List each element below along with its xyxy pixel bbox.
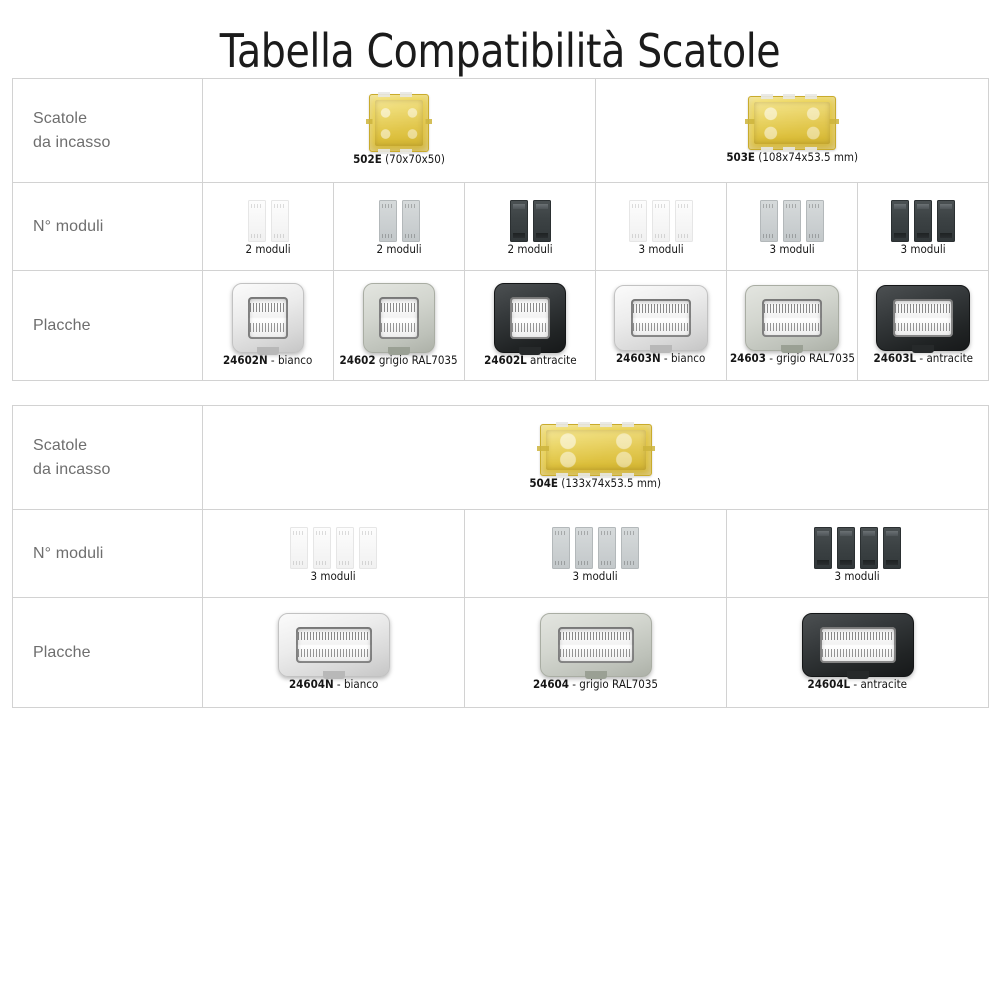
module-icon: [552, 527, 570, 569]
module-cell-2[interactable]: 2 moduli: [334, 183, 465, 271]
table-row-boxes: Scatole da incasso 504E (133x74x53.5 mm): [13, 406, 989, 510]
plate-icon-24604: [540, 613, 652, 677]
flush-box-504e-icon: [540, 424, 652, 476]
page-title: Tabella Compatibilità Scatole: [70, 0, 930, 78]
module-icon: [402, 200, 420, 242]
row-label-line-2: da incasso: [33, 458, 202, 481]
module-icons: [248, 200, 289, 242]
module-icons: [379, 200, 420, 242]
module-label: 2 moduli: [245, 242, 290, 256]
module-icons: [814, 527, 901, 569]
row-label-line-2: da incasso: [33, 131, 202, 154]
plate-code: 24604L: [808, 677, 851, 691]
module-icon: [783, 200, 801, 242]
module-icon: [675, 200, 693, 242]
plate-code: 24602N: [223, 353, 268, 367]
row-label-placche: Placche: [13, 271, 203, 381]
plate-finish: grigio RAL7035: [376, 353, 458, 367]
box-dims-502e: (70x70x50): [385, 152, 445, 166]
module-icons: [510, 200, 551, 242]
module-label: 3 moduli: [638, 242, 683, 256]
module-cell-1[interactable]: 3 moduli: [203, 510, 465, 598]
table-row-plates: Placche 24604N - bianco 24604 - grigio R…: [13, 598, 989, 708]
plate-finish: - grigio RAL7035: [569, 677, 658, 691]
module-cell-2[interactable]: 3 moduli: [465, 510, 727, 598]
module-label: 2 moduli: [376, 242, 421, 256]
module-icons: [629, 200, 693, 242]
plate-cell-24604[interactable]: 24604 - grigio RAL7035: [465, 598, 727, 708]
flush-box-503e-icon: [748, 96, 836, 150]
module-icons: [290, 527, 377, 569]
plate-code: 24604: [533, 677, 569, 691]
module-icon: [598, 527, 616, 569]
box-cell-502e[interactable]: 502E (70x70x50): [203, 79, 596, 183]
box-code-503e: 503E: [726, 150, 755, 164]
module-icons: [891, 200, 955, 242]
plate-icon-24603: [745, 285, 839, 351]
plate-icon-24603l: [876, 285, 970, 351]
flush-box-502e-icon: [369, 94, 429, 152]
module-icon: [510, 200, 528, 242]
module-icons: [552, 527, 639, 569]
module-cell-4[interactable]: 3 moduli: [596, 183, 727, 271]
plate-code: 24603L: [873, 351, 916, 365]
box-caption-502e: 502E (70x70x50): [353, 152, 445, 166]
plate-icon-24603n: [614, 285, 708, 351]
table-row-plates: Placche 24602N - bianco 24602 grigio RAL…: [13, 271, 989, 381]
plate-cell-24602[interactable]: 24602 grigio RAL7035: [334, 271, 465, 381]
box-code-504e: 504E: [530, 476, 559, 490]
module-icon: [313, 527, 331, 569]
plate-cell-24603n[interactable]: 24603N - bianco: [596, 271, 727, 381]
module-icon: [248, 200, 266, 242]
plate-cell-24602n[interactable]: 24602N - bianco: [203, 271, 334, 381]
module-icon: [891, 200, 909, 242]
row-label-line-1: Scatole: [33, 434, 202, 457]
box-code-502e: 502E: [353, 152, 382, 166]
plate-caption: 24604L - antracite: [808, 677, 907, 691]
plate-finish: - bianco: [333, 677, 378, 691]
plate-finish: antracite: [526, 353, 576, 367]
plate-code: 24603: [729, 351, 765, 365]
module-icon: [814, 527, 832, 569]
row-label-scatole-da-incasso: Scatole da incasso: [13, 406, 203, 510]
row-label-placche: Placche: [13, 598, 203, 708]
plate-finish: - bianco: [268, 353, 313, 367]
plate-caption: 24603L - antracite: [873, 351, 972, 365]
module-cell-1[interactable]: 2 moduli: [203, 183, 334, 271]
plate-icon-24602l: [494, 283, 566, 353]
plate-finish: - antracite: [916, 351, 973, 365]
row-label-n-moduli: N° moduli: [13, 183, 203, 271]
module-label: 2 moduli: [507, 242, 552, 256]
module-icons: [760, 200, 824, 242]
plate-caption: 24603N - bianco: [616, 351, 705, 365]
table-row-modules: N° moduli 2 moduli: [13, 183, 989, 271]
plate-caption: 24603 - grigio RAL7035: [729, 351, 854, 365]
module-label: 3 moduli: [311, 569, 356, 583]
module-label: 3 moduli: [835, 569, 880, 583]
table-row-boxes: Scatole da incasso 502E (70x70x50): [13, 79, 989, 183]
module-label: 3 moduli: [573, 569, 618, 583]
module-icon: [336, 527, 354, 569]
module-icon: [359, 527, 377, 569]
module-cell-3[interactable]: 2 moduli: [465, 183, 596, 271]
module-icon: [629, 200, 647, 242]
plate-caption: 24604N - bianco: [289, 677, 378, 691]
plate-finish: - grigio RAL7035: [766, 351, 855, 365]
box-dims-503e: (108x74x53.5 mm): [758, 150, 858, 164]
compatibility-table-502-503: Scatole da incasso 502E (70x70x50): [12, 78, 989, 381]
plate-caption: 24602 grigio RAL7035: [340, 353, 458, 367]
plate-code: 24602: [340, 353, 376, 367]
module-label: 3 moduli: [900, 242, 945, 256]
module-icon: [937, 200, 955, 242]
module-icon: [837, 527, 855, 569]
table-row-modules: N° moduli 3 moduli: [13, 510, 989, 598]
plate-icon-24602: [363, 283, 435, 353]
plate-cell-24603l[interactable]: 24603L - antracite: [858, 271, 989, 381]
module-icon: [860, 527, 878, 569]
module-icon: [914, 200, 932, 242]
module-label: 3 moduli: [769, 242, 814, 256]
plate-code: 24604N: [289, 677, 334, 691]
plate-icon-24602n: [232, 283, 304, 353]
plate-cell-24603[interactable]: 24603 - grigio RAL7035: [727, 271, 858, 381]
plate-caption: 24604 - grigio RAL7035: [533, 677, 658, 691]
module-cell-6[interactable]: 3 moduli: [858, 183, 989, 271]
box-caption-504e: 504E (133x74x53.5 mm): [530, 476, 662, 490]
module-icon: [652, 200, 670, 242]
box-dims-504e: (133x74x53.5 mm): [562, 476, 662, 490]
module-cell-3[interactable]: 3 moduli: [727, 510, 989, 598]
row-label-line-1: Scatole: [33, 107, 202, 130]
module-icon: [290, 527, 308, 569]
plate-caption: 24602N - bianco: [223, 353, 312, 367]
table-gap: [12, 381, 988, 405]
module-icon: [760, 200, 778, 242]
module-icon: [379, 200, 397, 242]
plate-caption: 24602L antracite: [484, 353, 576, 367]
module-icon: [271, 200, 289, 242]
module-icon: [621, 527, 639, 569]
plate-cell-24604l[interactable]: 24604L - antracite: [727, 598, 989, 708]
box-cell-503e[interactable]: 503E (108x74x53.5 mm): [596, 79, 989, 183]
box-caption-503e: 503E (108x74x53.5 mm): [726, 150, 858, 164]
plate-cell-24604n[interactable]: 24604N - bianco: [203, 598, 465, 708]
plate-finish: - bianco: [661, 351, 706, 365]
tables-container: Scatole da incasso 502E (70x70x50): [0, 78, 1000, 708]
plate-code: 24602L: [484, 353, 527, 367]
plate-icon-24604n: [278, 613, 390, 677]
module-icon: [883, 527, 901, 569]
row-label-scatole-da-incasso: Scatole da incasso: [13, 79, 203, 183]
module-icon: [533, 200, 551, 242]
module-cell-5[interactable]: 3 moduli: [727, 183, 858, 271]
row-label-n-moduli: N° moduli: [13, 510, 203, 598]
compatibility-table-504: Scatole da incasso 504E (133x74x53.5 mm): [12, 405, 989, 708]
module-icon: [806, 200, 824, 242]
plate-code: 24603N: [616, 351, 661, 365]
plate-cell-24602l[interactable]: 24602L antracite: [465, 271, 596, 381]
plate-icon-24604l: [802, 613, 914, 677]
plate-finish: - antracite: [850, 677, 907, 691]
box-cell-504e[interactable]: 504E (133x74x53.5 mm): [203, 406, 989, 510]
module-icon: [575, 527, 593, 569]
